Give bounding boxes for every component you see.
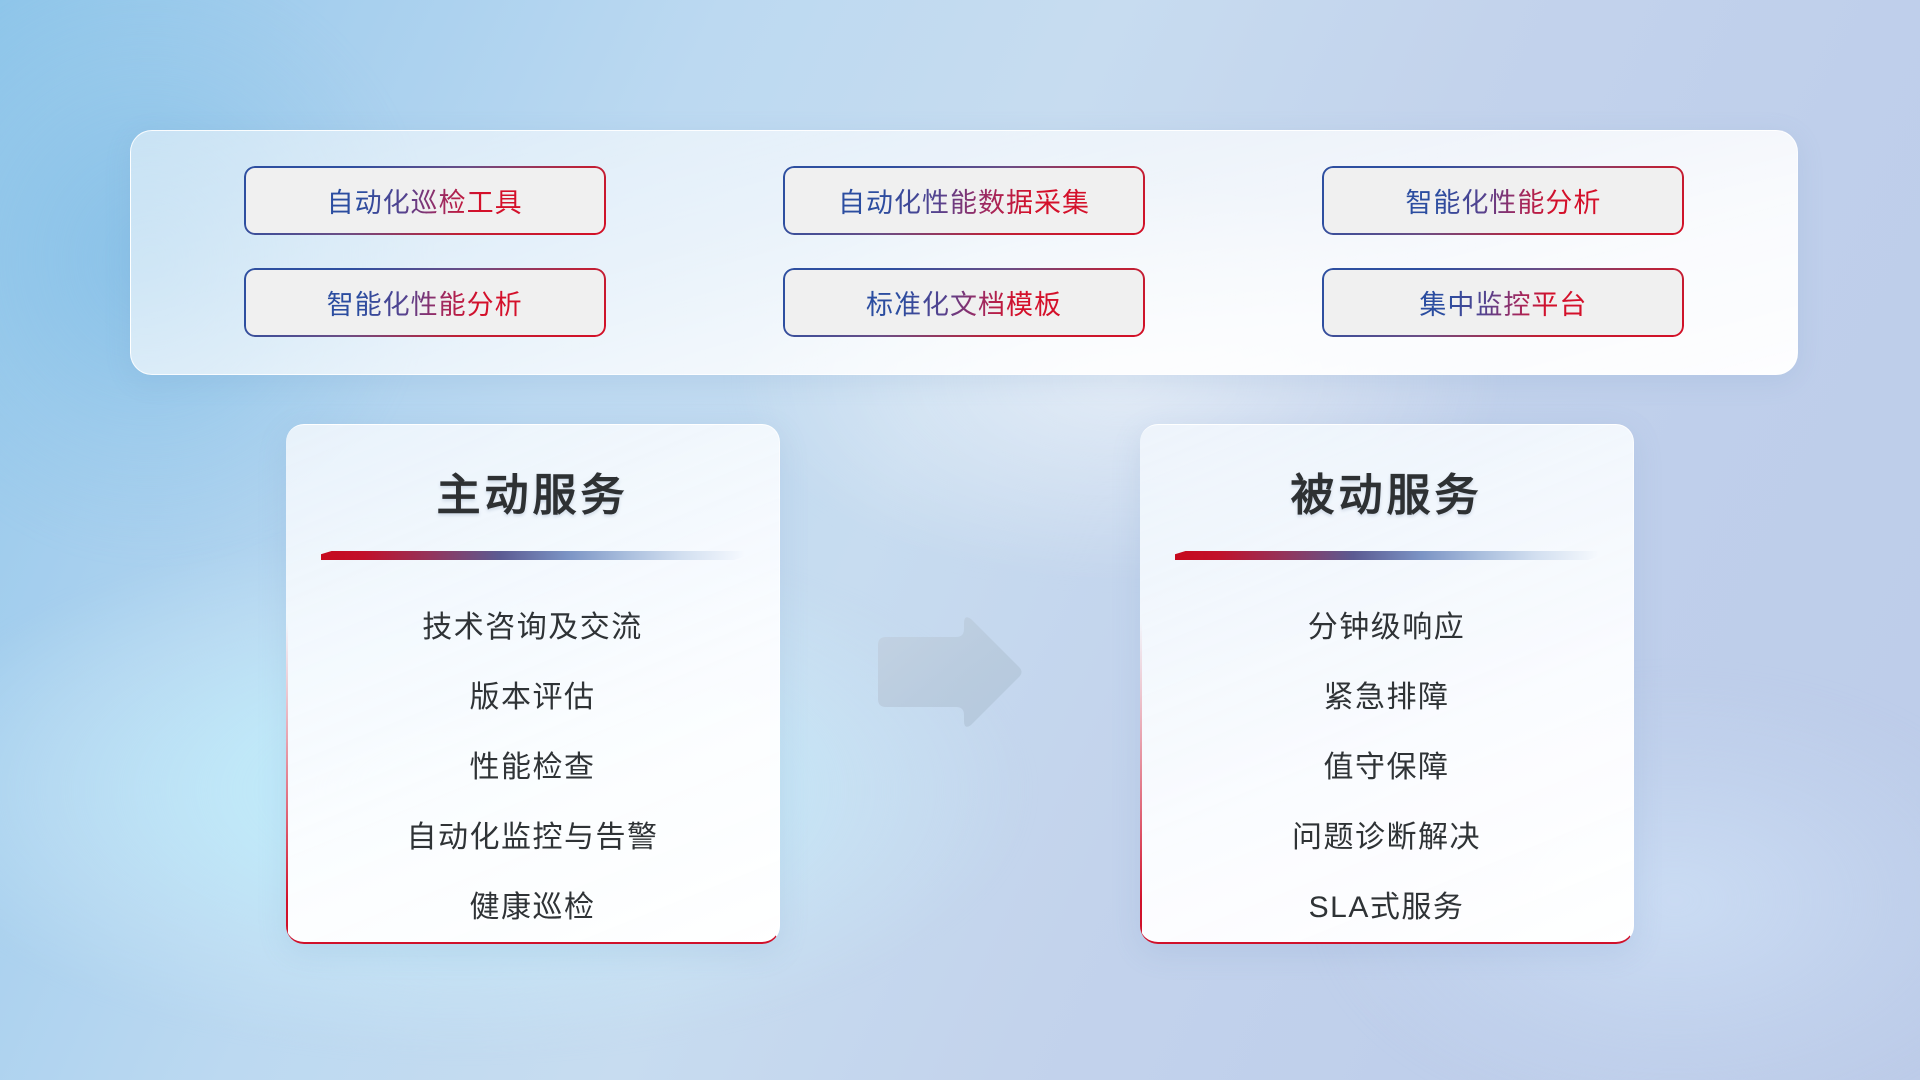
service-card-proactive: 主动服务 技术咨询及交流 版本评估 性能检查 自动化监控与告警 健康巡检 (286, 424, 780, 944)
capability-tag[interactable]: 智能化性能分析 (246, 270, 604, 335)
list-item: 问题诊断解决 (1292, 812, 1481, 856)
list-item: 值守保障 (1324, 742, 1450, 786)
list-item: 版本评估 (470, 672, 596, 716)
service-card-reactive: 被动服务 分钟级响应 紧急排障 值守保障 问题诊断解决 SLA式服务 (1140, 424, 1634, 944)
list-item: 自动化监控与告警 (407, 812, 659, 856)
card-item-list: 分钟级响应 紧急排障 值守保障 问题诊断解决 SLA式服务 (1140, 602, 1633, 926)
capability-tag-label: 自动化性能数据采集 (838, 181, 1090, 220)
card-divider (321, 551, 745, 560)
list-item: 性能检查 (470, 742, 596, 786)
list-item: SLA式服务 (1309, 882, 1465, 926)
capability-tag[interactable]: 自动化性能数据采集 (785, 168, 1143, 233)
card-item-list: 技术咨询及交流 版本评估 性能检查 自动化监控与告警 健康巡检 (286, 602, 779, 926)
capability-tag-label: 集中监控平台 (1419, 283, 1587, 322)
list-item: 健康巡检 (470, 882, 596, 926)
capability-tag[interactable]: 智能化性能分析 (1324, 168, 1682, 233)
capability-tag[interactable]: 自动化巡检工具 (246, 168, 604, 233)
capability-tag-label: 智能化性能分析 (327, 283, 523, 322)
card-accent-edge (1140, 425, 1142, 942)
card-divider-bar (1175, 551, 1599, 560)
capability-tag-label: 标准化文档模板 (866, 283, 1062, 322)
list-item: 分钟级响应 (1308, 602, 1466, 646)
list-item: 技术咨询及交流 (422, 602, 643, 646)
card-title: 主动服务 (286, 459, 779, 523)
card-title: 被动服务 (1140, 459, 1633, 523)
list-item: 紧急排障 (1324, 672, 1450, 716)
capability-tag-label: 智能化性能分析 (1405, 181, 1601, 220)
capability-tag-panel: 自动化巡检工具 自动化性能数据采集 智能化性能分析 智能化性能分析 标准化文档模… (130, 130, 1798, 375)
capability-tag[interactable]: 标准化文档模板 (785, 270, 1143, 335)
capability-tag[interactable]: 集中监控平台 (1324, 270, 1682, 335)
card-divider (1175, 551, 1599, 560)
right-arrow-icon (872, 614, 1024, 730)
capability-tag-label: 自动化巡检工具 (327, 181, 523, 220)
card-accent-edge (286, 425, 288, 942)
card-divider-bar (321, 551, 745, 560)
